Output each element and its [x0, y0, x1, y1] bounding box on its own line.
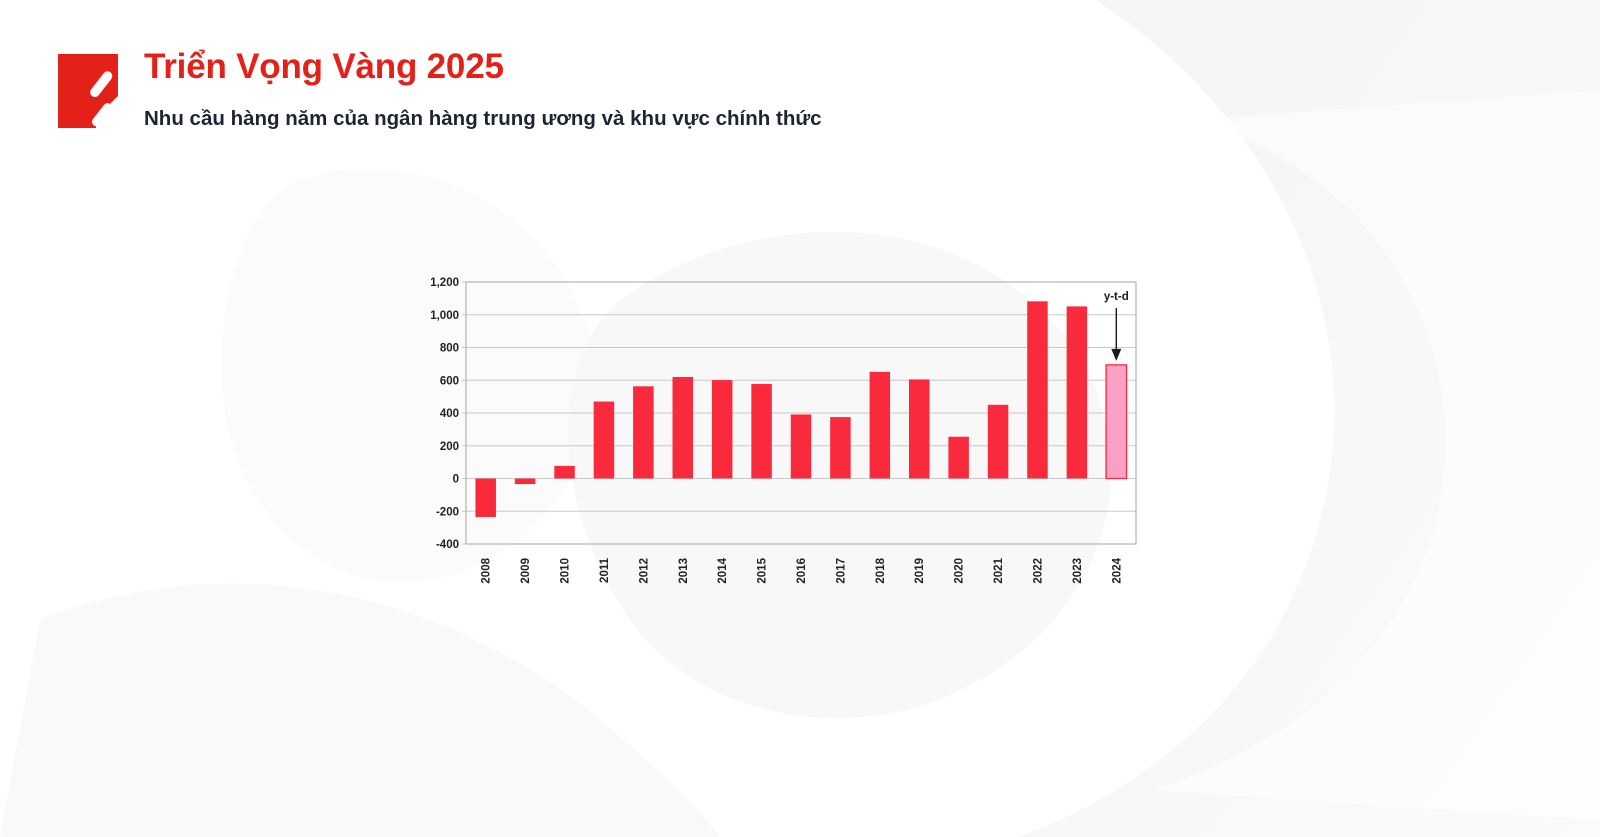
bar-2014[interactable] — [712, 380, 732, 478]
x-axis-tick-label-2016: 2016 — [796, 558, 808, 584]
chart-canvas: 1,2001,0008006004002000-200-400 20082009… — [414, 272, 1154, 592]
x-axis-tick-label-2014: 2014 — [717, 557, 729, 583]
page-subtitle: Nhu cầu hàng năm của ngân hàng trung ươn… — [144, 107, 822, 131]
y-axis-tick-label: 0 — [453, 474, 459, 486]
bar-2018[interactable] — [870, 372, 890, 479]
bar-2010[interactable] — [554, 466, 574, 479]
bar-2013[interactable] — [673, 377, 693, 479]
header-text-block: Triển Vọng Vàng 2025 Nhu cầu hàng năm củ… — [144, 48, 822, 131]
x-axis-tick-label-2024: 2024 — [1111, 557, 1123, 583]
annotation-arrow-head-icon — [1111, 349, 1121, 361]
x-axis-tick-label-2015: 2015 — [757, 557, 769, 583]
x-axis-tick-label-2021: 2021 — [993, 557, 1005, 583]
x-axis-tick-label-2008: 2008 — [481, 557, 493, 583]
x-axis-tick-label-2020: 2020 — [954, 558, 966, 584]
bar-2019[interactable] — [909, 379, 929, 478]
y-axis-tick-label: 400 — [440, 408, 459, 420]
bar-2024[interactable] — [1106, 365, 1126, 479]
y-axis-tick-label: 1,200 — [430, 277, 459, 289]
bar-2012[interactable] — [633, 386, 653, 478]
y-axis-tick-label: 1,000 — [430, 310, 459, 322]
x-axis-tick-label-2012: 2012 — [638, 558, 650, 584]
y-axis-tick-labels: 1,2001,0008006004002000-200-400 — [430, 277, 466, 551]
page-title: Triển Vọng Vàng 2025 — [144, 48, 822, 85]
x-axis-tick-label-2017: 2017 — [835, 558, 847, 584]
x-axis-tick-label-2023: 2023 — [1072, 558, 1084, 584]
chart-annotations: y-t-d — [1104, 291, 1129, 361]
annotation-label-ytd: y-t-d — [1104, 291, 1129, 303]
x-axis-tick-label-2011: 2011 — [599, 557, 611, 583]
x-axis-tick-label-2013: 2013 — [678, 558, 690, 584]
bar-2008[interactable] — [475, 479, 495, 517]
bar-2009[interactable] — [515, 479, 535, 485]
y-axis-tick-label: -200 — [436, 506, 459, 518]
x-axis-tick-label-2009: 2009 — [520, 558, 532, 584]
bar-2021[interactable] — [988, 405, 1008, 479]
y-axis-tick-label: 200 — [440, 441, 459, 453]
bar-2023[interactable] — [1067, 306, 1087, 478]
page-header: Triển Vọng Vàng 2025 Nhu cầu hàng năm củ… — [56, 48, 822, 131]
bar-2020[interactable] — [948, 437, 968, 479]
x-axis-tick-label-2019: 2019 — [914, 558, 926, 584]
x-axis-tick-labels: 2008200920102011201220132014201520162017… — [481, 557, 1124, 583]
brand-logo-icon — [56, 52, 128, 130]
y-axis-tick-label: 800 — [440, 343, 459, 355]
x-axis-tick-label-2022: 2022 — [1032, 558, 1044, 584]
y-axis-tick-label: 600 — [440, 375, 459, 387]
bar-2016[interactable] — [791, 414, 811, 478]
bar-2017[interactable] — [830, 417, 850, 478]
bar-2011[interactable] — [594, 402, 614, 479]
bars-group — [475, 301, 1126, 517]
bar-chart: 1,2001,0008006004002000-200-400 20082009… — [414, 272, 1154, 592]
x-axis-tick-label-2010: 2010 — [560, 558, 572, 584]
x-axis-tick-label-2018: 2018 — [875, 557, 887, 583]
y-axis-tick-label: -400 — [436, 539, 459, 551]
bar-2015[interactable] — [751, 384, 771, 478]
bar-2022[interactable] — [1027, 301, 1047, 478]
